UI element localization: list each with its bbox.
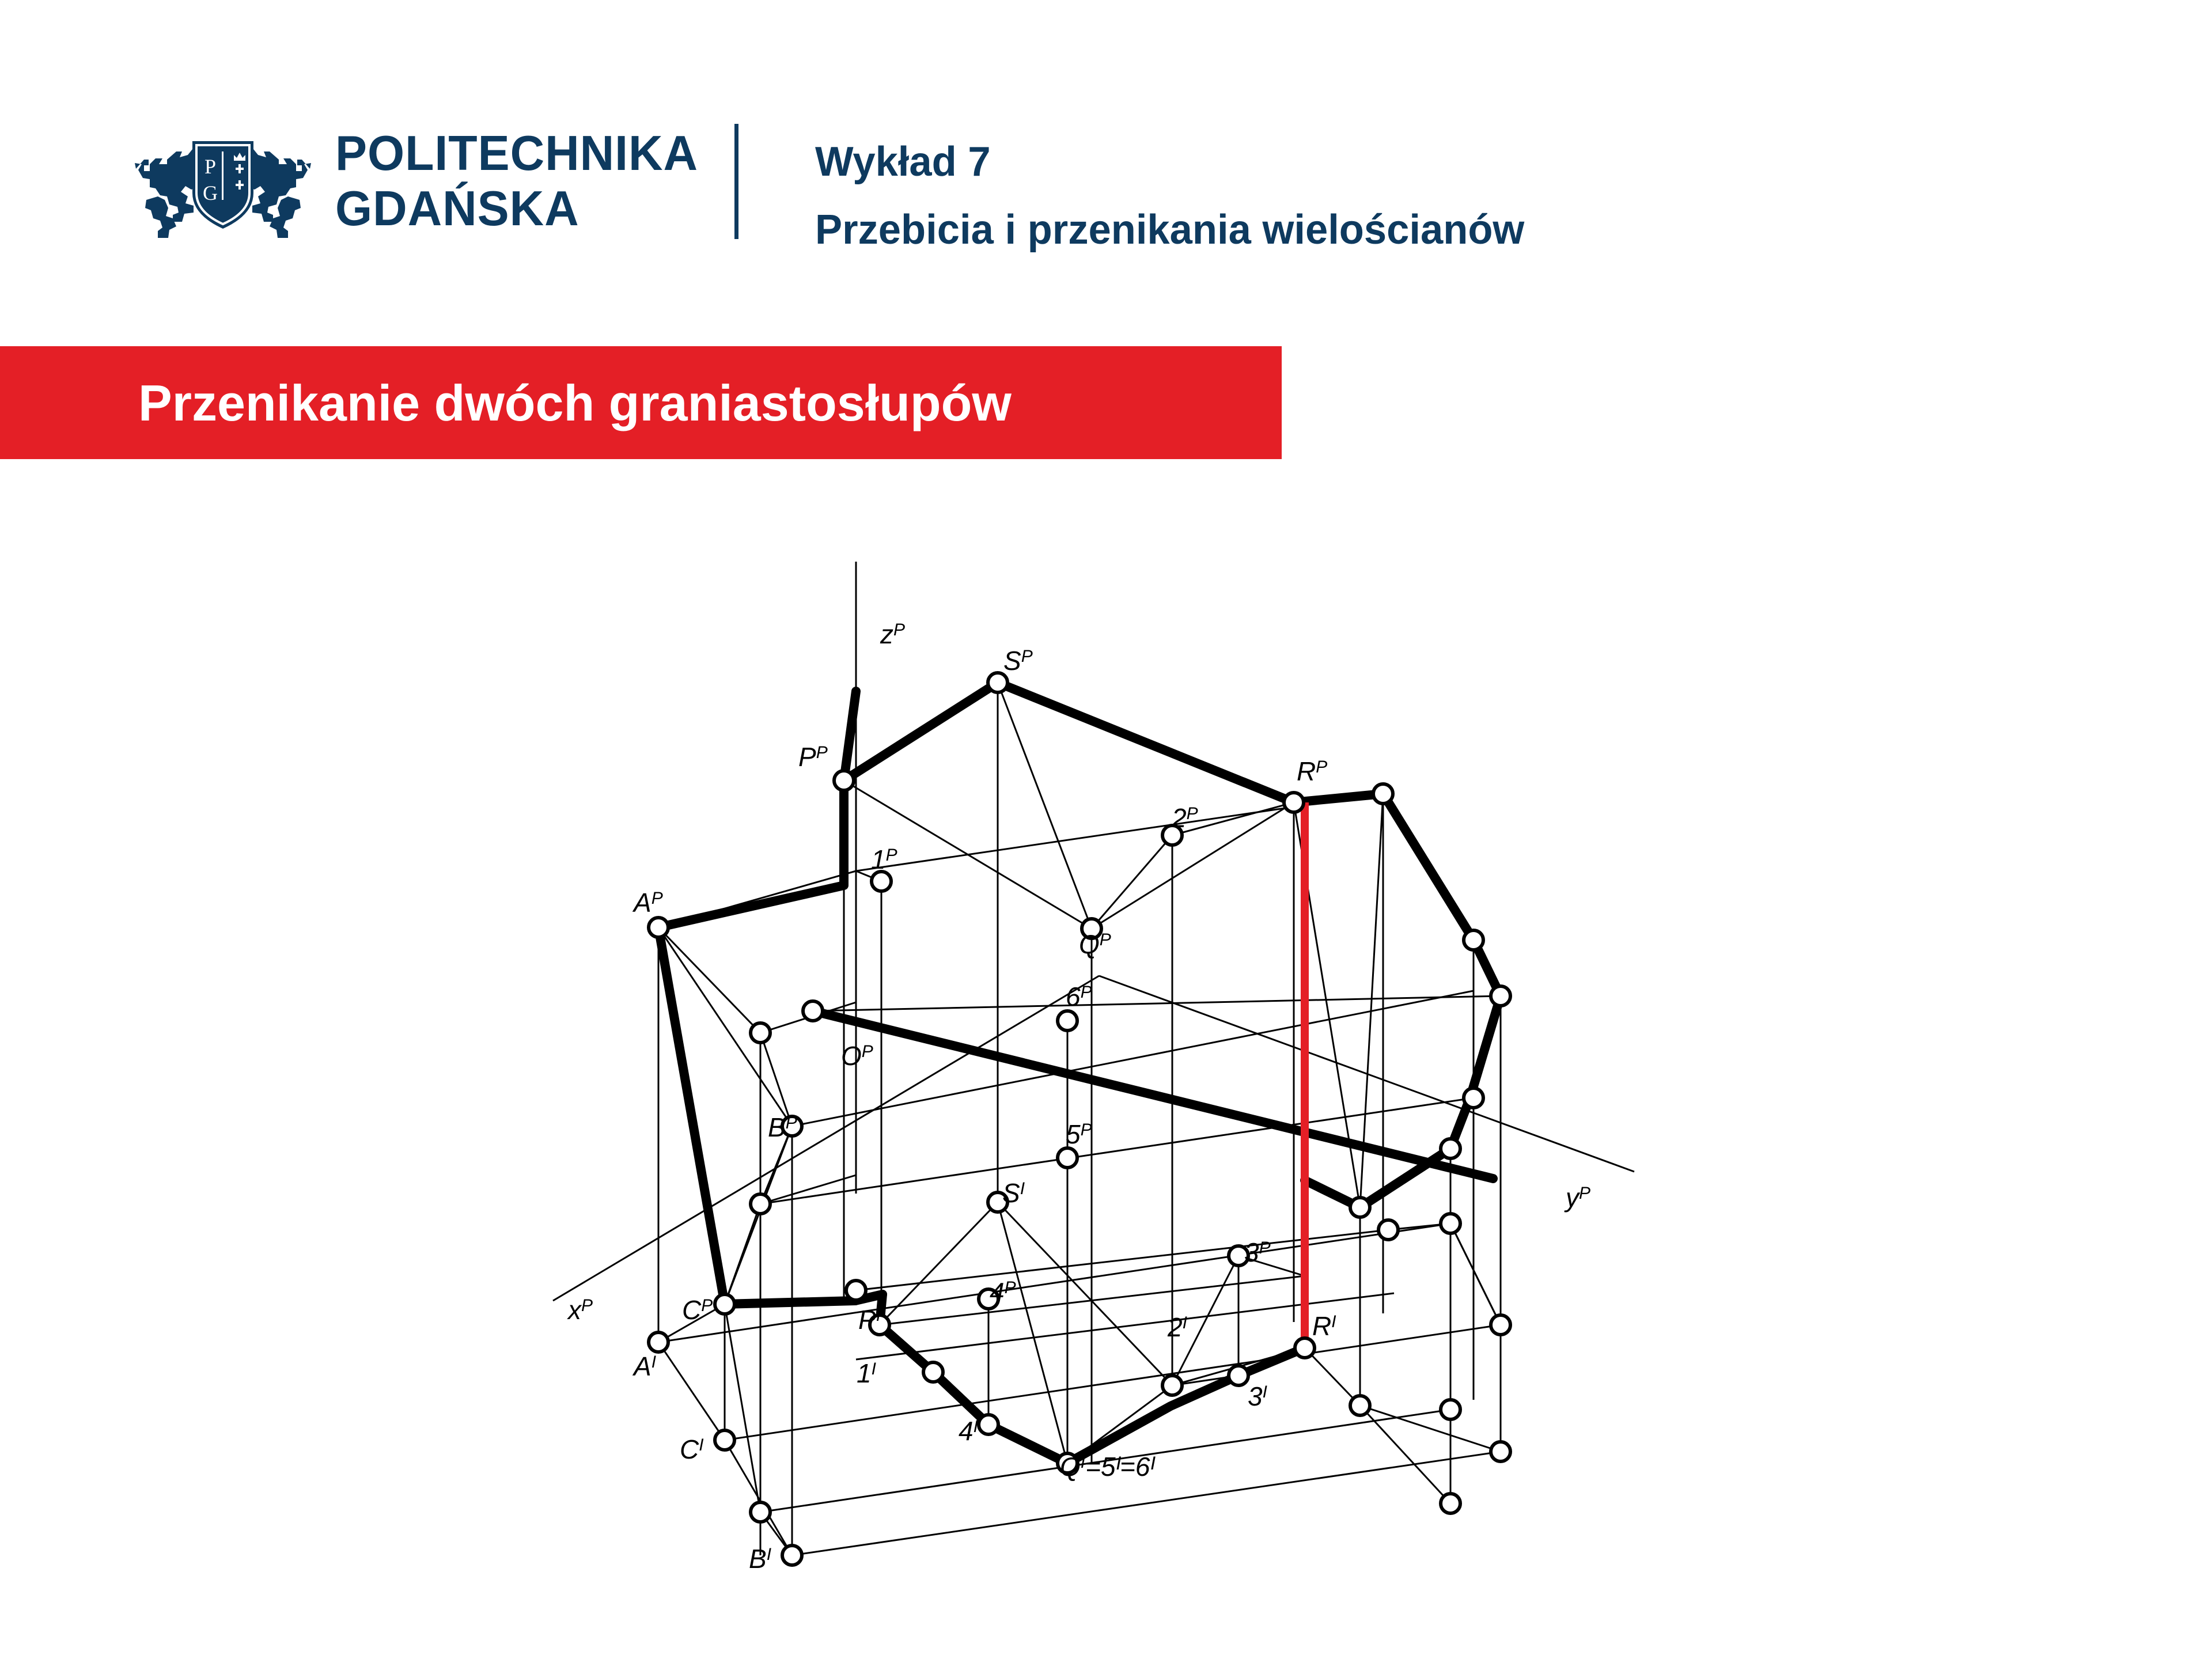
point-label-BI: BI	[749, 1544, 771, 1574]
point-label-1I: 1I	[857, 1358, 876, 1388]
section-title: Przenikanie dwóch graniastosłupów	[138, 363, 1012, 443]
point-label-yP: yP	[1564, 1183, 1590, 1213]
point-label-4I: 4I	[959, 1416, 978, 1446]
point-label-SP: SP	[1003, 646, 1033, 676]
lecture-subject: Przebicia i przenikania wielościanów	[815, 196, 2057, 264]
point-label-2I: 2I	[1167, 1312, 1187, 1342]
point-label-RP: RP	[1297, 756, 1327, 786]
point-label-Q56I: QI=5ᴵ=6ᴵ	[1060, 1452, 1156, 1482]
pg-crest-icon: P G	[128, 124, 318, 242]
point-label-PP: PP	[798, 742, 828, 772]
header-title-block: Wykład 7 Przebicia i przenikania wielośc…	[815, 128, 2082, 255]
point-label-QP: QP	[1079, 929, 1111, 959]
slide-header: P G POLITECHNIKA GDAŃSKA Wykład 7 Przebi…	[0, 0, 2212, 323]
logo-wordmark: POLITECHNIKA GDAŃSKA	[335, 126, 738, 241]
header-divider	[734, 124, 738, 239]
point-label-2P: 2P	[1171, 803, 1198, 833]
point-label-AI: AI	[632, 1351, 656, 1381]
point-label-CI: CI	[680, 1434, 704, 1464]
point-label-4P: 4P	[990, 1277, 1016, 1307]
point-label-3P: 3P	[1244, 1237, 1271, 1267]
point-label-CP: CP	[682, 1295, 713, 1325]
point-label-3I: 3I	[1248, 1381, 1267, 1411]
logo-line-1: POLITECHNIKA	[335, 126, 726, 181]
university-logo: P G POLITECHNIKA GDAŃSKA	[128, 124, 738, 242]
point-label-xP: xP	[567, 1295, 593, 1325]
point-label-SI: SI	[1002, 1178, 1025, 1208]
svg-text:G: G	[203, 181, 218, 204]
section-title-banner: Przenikanie dwóch graniastosłupów	[0, 346, 1282, 459]
svg-text:P: P	[204, 155, 216, 178]
point-label-6P: 6P	[1066, 982, 1092, 1012]
logo-line-2: GDAŃSKA	[335, 181, 726, 237]
axonometric-projection-svg: zPxPyPSPPPRPAP2P1PQP6POPBP5PSI3P4P2IRICP…	[0, 495, 2212, 1659]
thin-construction-lines	[553, 562, 1634, 1555]
lecture-number: Wykład 7	[815, 128, 2057, 196]
point-label-RI: RI	[1312, 1311, 1336, 1341]
point-label-AP: AP	[632, 888, 663, 918]
point-label-5P: 5P	[1066, 1119, 1092, 1149]
technical-drawing: zPxPyPSPPPRPAP2P1PQP6POPBP5PSI3P4P2IRICP…	[0, 495, 2212, 1659]
point-label-zP: zP	[880, 619, 905, 649]
point-label-OP: OP	[841, 1041, 873, 1071]
point-label-1P: 1P	[871, 844, 897, 874]
